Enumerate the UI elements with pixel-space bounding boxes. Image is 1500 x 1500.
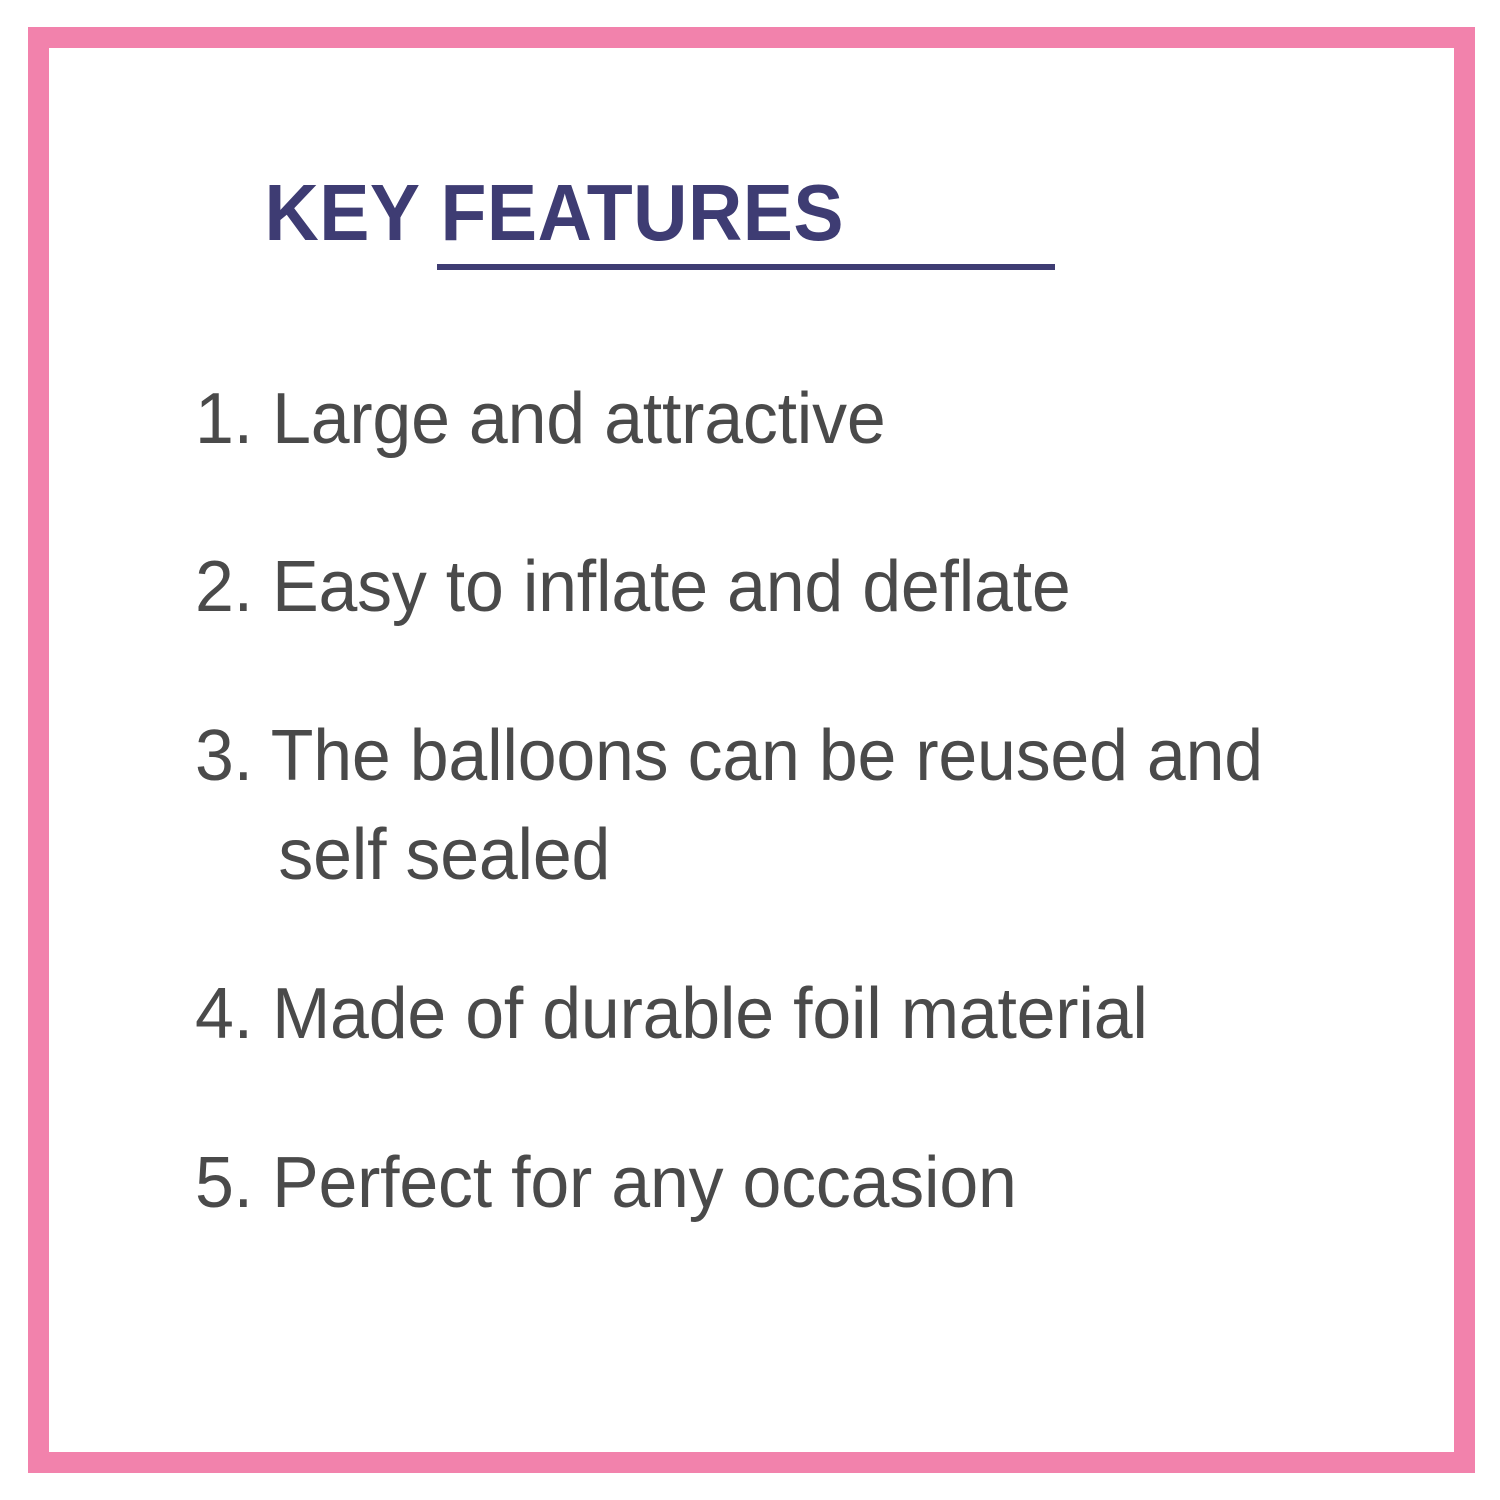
list-item-text: The balloons can be reused and <box>271 716 1263 796</box>
list-item-text: Easy to inflate and deflate <box>272 547 1070 627</box>
title-underline-rule <box>437 264 1055 270</box>
list-item: 5. Perfect for any occasion <box>195 1134 1388 1233</box>
key-features-poster: KEY FEATURES 1. Large and attractive 2. … <box>0 0 1500 1500</box>
list-item-number: 3. <box>195 716 271 796</box>
list-item: 3. The balloons can be reused and self s… <box>195 707 1388 906</box>
list-item: 2. Easy to inflate and deflate <box>195 538 1388 637</box>
page-title: KEY FEATURES <box>264 178 843 258</box>
list-item-text: Perfect for any occasion <box>272 1143 1017 1223</box>
list-item-text: Large and attractive <box>272 379 885 459</box>
list-item: 1. Large and attractive <box>195 370 1388 469</box>
list-item-number: 2. <box>195 547 272 627</box>
list-item-number: 1. <box>195 379 272 459</box>
heading-block: KEY FEATURES <box>49 178 1059 258</box>
list-item-text-line2: self sealed <box>195 806 1388 905</box>
list-item-text: Made of durable foil material <box>272 974 1148 1054</box>
features-list: 1. Large and attractive 2. Easy to infla… <box>195 370 1425 1233</box>
poster-content-area: KEY FEATURES 1. Large and attractive 2. … <box>49 48 1454 1452</box>
list-item-number: 5. <box>195 1143 272 1223</box>
list-item: 4. Made of durable foil material <box>195 965 1388 1064</box>
list-item-number: 4. <box>195 974 272 1054</box>
